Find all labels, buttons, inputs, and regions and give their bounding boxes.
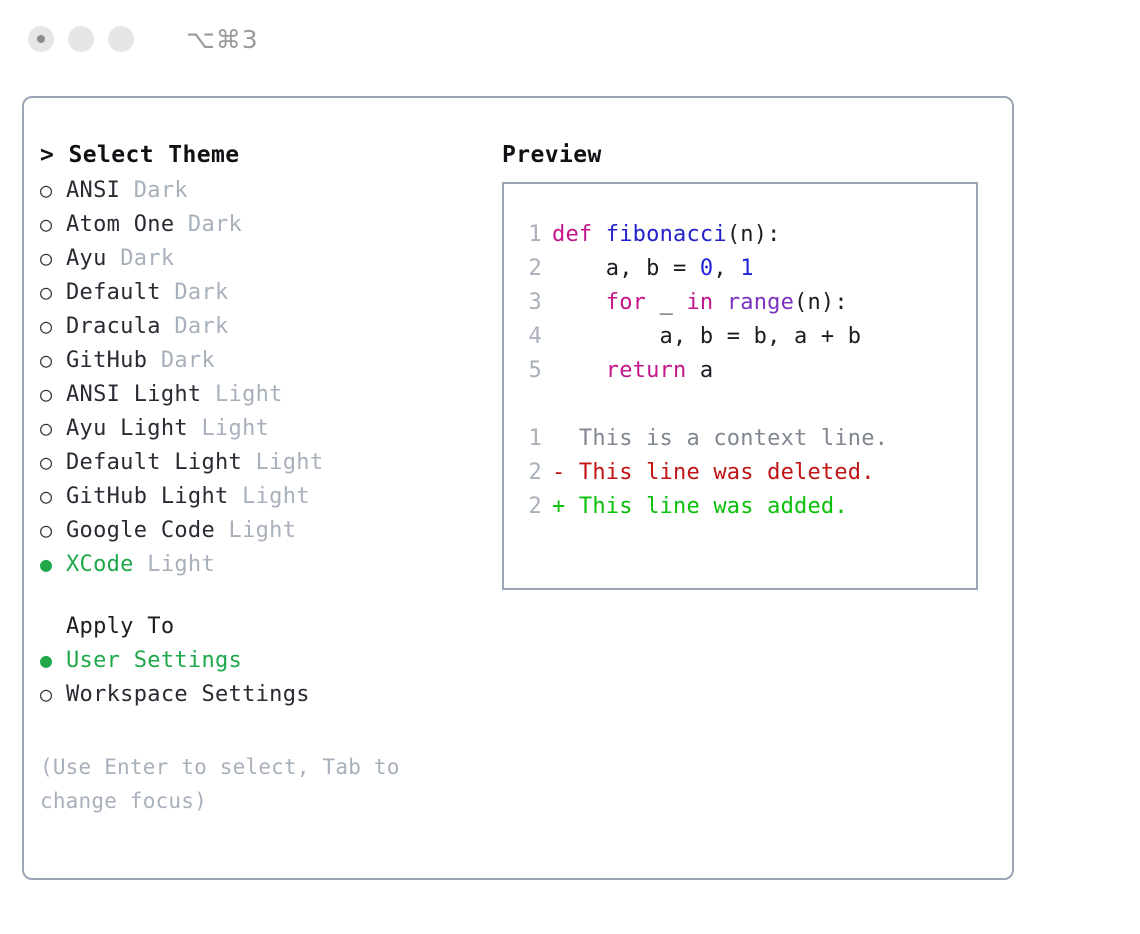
theme-list[interactable]: ○ANSI Dark○Atom One Dark○Ayu Dark○Defaul… bbox=[40, 178, 494, 586]
app-window: ⌥⌘3 > Select Theme ○ANSI Dark○Atom One D… bbox=[0, 0, 1140, 934]
radio-selected-icon[interactable]: ● bbox=[40, 554, 66, 574]
theme-option-gap bbox=[120, 178, 134, 203]
theme-option[interactable]: ○Atom One Dark bbox=[40, 212, 494, 246]
code-token: (n): bbox=[794, 290, 848, 315]
code-token: def bbox=[552, 222, 592, 247]
code-token bbox=[592, 222, 605, 247]
theme-option[interactable]: ○Google Code Light bbox=[40, 518, 494, 552]
apply-to-option[interactable]: ○Workspace Settings bbox=[40, 682, 494, 716]
diff-line: 1 This is a context line. bbox=[504, 426, 976, 460]
code-token: a bbox=[686, 358, 713, 383]
theme-option-category: Light bbox=[201, 416, 269, 441]
theme-option-name: GitHub Light bbox=[66, 484, 229, 509]
radio-unselected-icon[interactable]: ○ bbox=[40, 214, 66, 234]
code-line: 4 a, b = b, a + b bbox=[504, 324, 976, 358]
radio-unselected-icon[interactable]: ○ bbox=[40, 180, 66, 200]
theme-option-category: Dark bbox=[174, 280, 228, 305]
theme-option-gap bbox=[188, 416, 202, 441]
theme-option[interactable]: ○Dracula Dark bbox=[40, 314, 494, 348]
theme-option-name: GitHub bbox=[66, 348, 147, 373]
theme-option-gap bbox=[229, 484, 243, 509]
theme-option-name: Default Light bbox=[66, 450, 242, 475]
apply-to-option-name: User Settings bbox=[66, 648, 242, 673]
theme-option-gap bbox=[174, 212, 188, 237]
theme-option-category: Light bbox=[147, 552, 215, 577]
code-line-text: def fibonacci(n): bbox=[552, 222, 781, 247]
code-line-text: + This line was added. bbox=[552, 494, 848, 519]
theme-option[interactable]: ●XCode Light bbox=[40, 552, 494, 586]
code-token: a, b = b, a + b bbox=[552, 324, 861, 349]
apply-to-option[interactable]: ●User Settings bbox=[40, 648, 494, 682]
code-line: 3 for _ in range(n): bbox=[504, 290, 976, 324]
code-diff-spacer bbox=[504, 392, 976, 426]
theme-selection-pane: > Select Theme ○ANSI Dark○Atom One Dark○… bbox=[24, 142, 494, 878]
theme-option-gap bbox=[147, 348, 161, 373]
radio-selected-icon[interactable]: ● bbox=[40, 650, 66, 670]
theme-option-name: ANSI Light bbox=[66, 382, 201, 407]
diff-line: 2+ This line was added. bbox=[504, 494, 976, 528]
line-number: 2 bbox=[504, 256, 552, 281]
radio-unselected-icon[interactable]: ○ bbox=[40, 350, 66, 370]
preview-code-box: 1def fibonacci(n):2 a, b = 0, 13 for _ i… bbox=[502, 182, 978, 590]
radio-unselected-icon[interactable]: ○ bbox=[40, 520, 66, 540]
theme-option-name: Ayu bbox=[66, 246, 107, 271]
line-number: 3 bbox=[504, 290, 552, 315]
radio-unselected-icon[interactable]: ○ bbox=[40, 452, 66, 472]
code-token: a, b = bbox=[552, 256, 700, 281]
code-token: This is a context line. bbox=[552, 426, 888, 451]
apply-to-heading: Apply To bbox=[40, 614, 494, 648]
code-line-text: This is a context line. bbox=[552, 426, 888, 451]
theme-option-category: Dark bbox=[188, 212, 242, 237]
theme-option-gap bbox=[215, 518, 229, 543]
theme-option-category: Dark bbox=[174, 314, 228, 339]
theme-option[interactable]: ○GitHub Light Light bbox=[40, 484, 494, 518]
code-line-text: - This line was deleted. bbox=[552, 460, 875, 485]
code-token: for bbox=[606, 290, 646, 315]
code-sample: 1def fibonacci(n):2 a, b = 0, 13 for _ i… bbox=[504, 222, 976, 392]
theme-option-category: Light bbox=[229, 518, 297, 543]
theme-option-name: Atom One bbox=[66, 212, 174, 237]
apply-to-list[interactable]: ●User Settings○Workspace Settings bbox=[40, 648, 494, 716]
code-token: return bbox=[606, 358, 687, 383]
theme-option-category: Dark bbox=[134, 178, 188, 203]
line-number: 1 bbox=[504, 222, 552, 247]
code-line-text: return a bbox=[552, 358, 713, 383]
theme-option-gap bbox=[242, 450, 256, 475]
code-token: _ bbox=[646, 290, 686, 315]
theme-option-gap bbox=[107, 246, 121, 271]
diff-line: 2- This line was deleted. bbox=[504, 460, 976, 494]
preview-pane: Preview 1def fibonacci(n):2 a, b = 0, 13… bbox=[494, 142, 1012, 878]
theme-option-category: Dark bbox=[120, 246, 174, 271]
line-number: 5 bbox=[504, 358, 552, 383]
line-number: 1 bbox=[504, 426, 552, 451]
apply-to-indent bbox=[40, 614, 66, 639]
preview-heading: Preview bbox=[502, 142, 1012, 168]
theme-option-gap bbox=[134, 552, 148, 577]
section-spacer bbox=[40, 586, 494, 614]
code-line-text: a, b = 0, 1 bbox=[552, 256, 754, 281]
keyboard-shortcut-label: ⌥⌘3 bbox=[186, 25, 259, 54]
line-number: 4 bbox=[504, 324, 552, 349]
theme-option-category: Dark bbox=[161, 348, 215, 373]
code-line-text: for _ in range(n): bbox=[552, 290, 848, 315]
code-token: + This line was added. bbox=[552, 494, 848, 519]
code-token bbox=[552, 290, 606, 315]
line-number: 2 bbox=[504, 494, 552, 519]
theme-option[interactable]: ○Default Dark bbox=[40, 280, 494, 314]
code-token bbox=[552, 358, 606, 383]
line-number: 2 bbox=[504, 460, 552, 485]
code-line: 2 a, b = 0, 1 bbox=[504, 256, 976, 290]
theme-option[interactable]: ○ANSI Light Light bbox=[40, 382, 494, 416]
theme-option-name: ANSI bbox=[66, 178, 120, 203]
radio-unselected-icon[interactable]: ○ bbox=[40, 486, 66, 506]
code-token: 1 bbox=[740, 256, 753, 281]
radio-unselected-icon[interactable]: ○ bbox=[40, 384, 66, 404]
theme-option-name: Default bbox=[66, 280, 161, 305]
code-token: fibonacci bbox=[606, 222, 727, 247]
traffic-light-zoom-icon[interactable] bbox=[108, 26, 134, 52]
code-token: , bbox=[713, 256, 740, 281]
radio-unselected-icon[interactable]: ○ bbox=[40, 684, 66, 704]
theme-option-name: Ayu Light bbox=[66, 416, 188, 441]
radio-unselected-icon[interactable]: ○ bbox=[40, 316, 66, 336]
code-line: 1def fibonacci(n): bbox=[504, 222, 976, 256]
theme-option-name: XCode bbox=[66, 552, 134, 577]
radio-unselected-icon[interactable]: ○ bbox=[40, 418, 66, 438]
code-token: range bbox=[727, 290, 794, 315]
code-token: (n): bbox=[727, 222, 781, 247]
theme-option-category: Light bbox=[242, 484, 310, 509]
theme-option-category: Light bbox=[256, 450, 324, 475]
code-token: 0 bbox=[700, 256, 713, 281]
theme-option-gap bbox=[161, 314, 175, 339]
theme-option-gap bbox=[161, 280, 175, 305]
theme-option[interactable]: ○Ayu Dark bbox=[40, 246, 494, 280]
code-line: 5 return a bbox=[504, 358, 976, 392]
theme-option-category: Light bbox=[215, 382, 283, 407]
traffic-light-close-icon[interactable] bbox=[28, 26, 54, 52]
radio-unselected-icon[interactable]: ○ bbox=[40, 248, 66, 268]
theme-option[interactable]: ○Ayu Light Light bbox=[40, 416, 494, 450]
apply-to-label: Apply To bbox=[66, 614, 174, 639]
diff-sample: 1 This is a context line.2- This line wa… bbox=[504, 426, 976, 528]
theme-option[interactable]: ○ANSI Dark bbox=[40, 178, 494, 212]
theme-option-gap bbox=[201, 382, 215, 407]
code-token: in bbox=[686, 290, 713, 315]
theme-option-name: Google Code bbox=[66, 518, 215, 543]
code-token bbox=[713, 290, 726, 315]
apply-to-option-name: Workspace Settings bbox=[66, 682, 310, 707]
code-line-text: a, b = b, a + b bbox=[552, 324, 861, 349]
select-theme-heading: > Select Theme bbox=[40, 142, 494, 168]
theme-option-name: Dracula bbox=[66, 314, 161, 339]
radio-unselected-icon[interactable]: ○ bbox=[40, 282, 66, 302]
keyboard-hint-text: (Use Enter to select, Tab to change focu… bbox=[40, 750, 440, 818]
code-token: - This line was deleted. bbox=[552, 460, 875, 485]
theme-option[interactable]: ○GitHub Dark bbox=[40, 348, 494, 382]
theme-picker-dialog: > Select Theme ○ANSI Dark○Atom One Dark○… bbox=[22, 96, 1014, 880]
theme-option[interactable]: ○Default Light Light bbox=[40, 450, 494, 484]
traffic-light-minimize-icon[interactable] bbox=[68, 26, 94, 52]
window-titlebar: ⌥⌘3 bbox=[0, 0, 1140, 78]
